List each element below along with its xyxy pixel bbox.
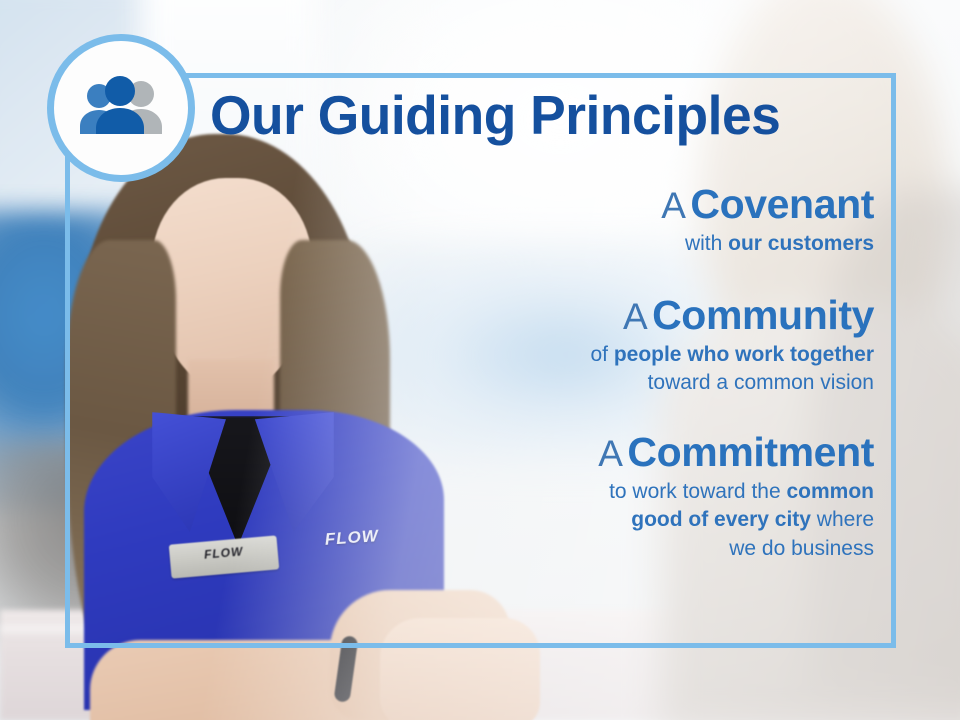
name-badge-text: FLOW [169,541,278,564]
principle-word: Covenant [690,181,874,227]
employee-clasped-hands [380,618,540,720]
principle-heading: A Community [300,293,874,337]
principle-heading: A Covenant [300,182,874,226]
principle-article: A [623,296,648,337]
principle-subline: with our customers [300,230,874,258]
principle-community: A Community of people who work together … [300,293,874,398]
people-group-badge [47,34,195,182]
principle-subline: toward a common vision [300,369,874,397]
principle-word: Commitment [627,429,874,475]
principle-subline: of people who work together [300,341,874,369]
principle-commitment: A Commitment to work toward the common g… [300,430,874,563]
guiding-principles-graphic: FLOW FLOW [0,0,960,720]
principle-subtext: of people who work together toward a com… [300,341,874,398]
principles-list: A Covenant with our customers A Communit… [300,182,874,571]
principle-article: A [598,433,623,474]
principle-word: Community [652,292,874,338]
page-title: Our Guiding Principles [210,88,850,143]
people-group-icon [71,76,171,140]
principle-covenant: A Covenant with our customers [300,182,874,259]
principle-article: A [661,185,686,226]
principle-subline: good of every city where [300,506,874,534]
principle-heading: A Commitment [300,430,874,474]
principle-subline: we do business [300,535,874,563]
principle-subtext: with our customers [300,230,874,258]
principle-subtext: to work toward the common good of every … [300,478,874,563]
principle-subline: to work toward the common [300,478,874,506]
